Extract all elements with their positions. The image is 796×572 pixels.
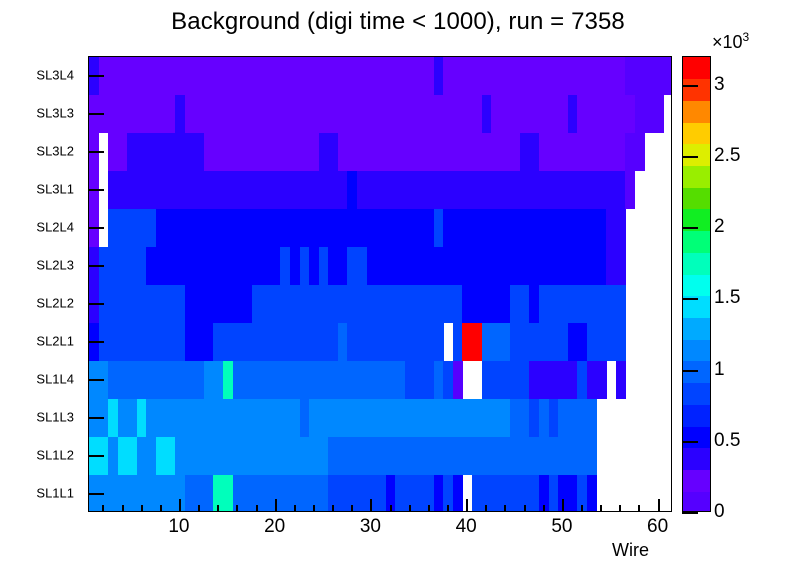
heatmap-cell bbox=[568, 323, 588, 362]
color-scale-tick-label: 1.5 bbox=[714, 287, 740, 309]
heatmap-cell bbox=[175, 437, 329, 476]
y-axis-tick bbox=[88, 265, 104, 267]
x-axis-minor-tick bbox=[160, 505, 162, 512]
heatmap-cell bbox=[577, 95, 635, 134]
color-scale-band bbox=[683, 143, 710, 166]
heatmap-cell bbox=[146, 247, 281, 286]
heatmap-cell bbox=[204, 133, 319, 172]
page-title: Background (digi time < 1000), run = 735… bbox=[0, 8, 796, 36]
color-scale-band bbox=[683, 317, 710, 340]
heatmap-cell bbox=[587, 475, 597, 512]
heatmap-cell bbox=[137, 437, 157, 476]
x-axis-title: Wire bbox=[612, 540, 649, 561]
y-axis-label-sl3l1: SL3L1 bbox=[36, 182, 74, 197]
heatmap-cell bbox=[118, 399, 138, 438]
heatmap-cell bbox=[443, 209, 606, 248]
heatmap-cell bbox=[625, 57, 672, 96]
heatmap-cell bbox=[118, 437, 138, 476]
heatmap-cell bbox=[108, 171, 348, 210]
heatmap-cell bbox=[462, 285, 510, 324]
heatmap-cell bbox=[558, 399, 597, 438]
heatmap-cell bbox=[204, 361, 224, 400]
heatmap-cell bbox=[213, 323, 338, 362]
color-scale-tick-label: 1 bbox=[714, 359, 725, 381]
heatmap-cell bbox=[347, 323, 443, 362]
heatmap-cell bbox=[252, 285, 463, 324]
color-scale-tick bbox=[682, 512, 698, 514]
heatmap-cell bbox=[443, 57, 626, 96]
color-scale-bar bbox=[682, 56, 711, 512]
x-axis-minor-tick bbox=[332, 505, 334, 512]
exponent-power: 3 bbox=[743, 30, 750, 44]
heatmap-cell bbox=[357, 171, 626, 210]
color-scale-band bbox=[683, 100, 710, 123]
heatmap-cell bbox=[635, 95, 664, 134]
y-axis-tick bbox=[88, 493, 104, 495]
x-axis-minor-tick bbox=[504, 505, 506, 512]
y-axis-tick bbox=[88, 303, 104, 305]
heatmap-cell bbox=[625, 133, 645, 172]
exponent-mantissa: ×10 bbox=[712, 32, 743, 52]
color-scale-band bbox=[683, 274, 710, 297]
y-axis-tick bbox=[88, 227, 104, 229]
y-axis-labels: SL3L4SL3L3SL3L2SL3L1SL2L4SL2L3SL2L2SL2L1… bbox=[0, 56, 86, 512]
x-axis-minor-tick bbox=[447, 505, 449, 512]
x-axis-minor-tick bbox=[409, 505, 411, 512]
x-axis-minor-tick bbox=[256, 505, 258, 512]
heatmap-cell bbox=[99, 57, 435, 96]
color-scale-band bbox=[683, 447, 710, 470]
color-scale-band bbox=[683, 230, 710, 253]
color-scale-band bbox=[683, 469, 710, 492]
heatmap-cell bbox=[156, 437, 176, 476]
heatmap-cell bbox=[453, 361, 463, 400]
y-axis-label-sl3l2: SL3L2 bbox=[36, 144, 74, 159]
heatmap-cell bbox=[510, 323, 568, 362]
y-axis-label-sl3l3: SL3L3 bbox=[36, 106, 74, 121]
heatmap-cell bbox=[453, 475, 463, 512]
heatmap-cell bbox=[338, 133, 521, 172]
color-scale-tick bbox=[682, 85, 698, 87]
heatmap-cell bbox=[156, 209, 434, 248]
heatmap-cell bbox=[328, 247, 348, 286]
color-scale-band bbox=[683, 165, 710, 188]
y-axis-tick bbox=[88, 455, 104, 457]
y-axis-label-sl2l1: SL2L1 bbox=[36, 334, 74, 349]
heatmap-cell bbox=[606, 209, 626, 248]
heatmap-cell bbox=[127, 133, 204, 172]
x-axis-minor-tick bbox=[351, 505, 353, 512]
y-axis-tick bbox=[88, 379, 104, 381]
color-scale-tick-label: 2 bbox=[714, 216, 725, 238]
x-axis-tick-label: 50 bbox=[551, 516, 572, 538]
y-axis-label-sl1l4: SL1L4 bbox=[36, 372, 74, 387]
x-axis-minor-tick bbox=[141, 505, 143, 512]
color-scale-tick bbox=[682, 298, 698, 300]
color-scale-band bbox=[683, 339, 710, 362]
color-scale-tick bbox=[682, 227, 698, 229]
x-axis-minor-tick bbox=[524, 505, 526, 512]
heatmap-cell bbox=[328, 437, 597, 476]
x-axis-minor-tick bbox=[485, 505, 487, 512]
y-axis-tick bbox=[88, 341, 104, 343]
y-axis-tick bbox=[88, 189, 104, 191]
root-canvas: Background (digi time < 1000), run = 735… bbox=[0, 0, 796, 572]
heatmap-cell bbox=[529, 361, 577, 400]
color-scale-band bbox=[683, 361, 710, 384]
x-axis-tick-label: 60 bbox=[647, 516, 668, 538]
heatmap-cell bbox=[367, 247, 607, 286]
heatmap-cell bbox=[328, 475, 386, 512]
x-axis-minor-tick bbox=[217, 505, 219, 512]
color-scale-tick-label: 3 bbox=[714, 74, 725, 96]
x-axis-minor-tick bbox=[294, 505, 296, 512]
x-axis-minor-tick bbox=[543, 505, 545, 512]
heatmap-cell bbox=[108, 133, 128, 172]
x-axis-major-tick bbox=[275, 499, 277, 512]
color-scale-band bbox=[683, 122, 710, 145]
color-scale-band bbox=[683, 252, 710, 275]
color-scale-band bbox=[683, 78, 710, 101]
y-axis-tick bbox=[88, 75, 104, 77]
heatmap-cell bbox=[510, 399, 530, 438]
heatmap-cell bbox=[510, 285, 530, 324]
heatmap-cell bbox=[606, 247, 626, 286]
x-axis-minor-tick bbox=[638, 505, 640, 512]
color-scale-band bbox=[683, 426, 710, 449]
y-axis-tick bbox=[88, 151, 104, 153]
heatmap-cell bbox=[99, 285, 186, 324]
heatmap-cell bbox=[319, 133, 339, 172]
heatmap-cell bbox=[539, 133, 626, 172]
heatmap-cell bbox=[233, 361, 406, 400]
color-scale-tick-label: 2.5 bbox=[714, 145, 740, 167]
heatmap-cell bbox=[185, 95, 482, 134]
y-axis-tick bbox=[88, 113, 104, 115]
x-axis-major-tick bbox=[562, 499, 564, 512]
heatmap-cell bbox=[491, 95, 568, 134]
heatmap-cell bbox=[539, 285, 626, 324]
color-scale-band bbox=[683, 491, 710, 512]
color-scale-tick bbox=[682, 370, 698, 372]
heatmap-cell bbox=[482, 361, 530, 400]
heatmap-cell bbox=[520, 133, 540, 172]
color-scale-band bbox=[683, 404, 710, 427]
color-scale-tick bbox=[682, 156, 698, 158]
color-scale-band bbox=[683, 187, 710, 210]
heatmap-cell bbox=[405, 361, 434, 400]
heatmap-cell bbox=[616, 361, 626, 400]
x-axis-minor-tick bbox=[581, 505, 583, 512]
y-axis-label-sl2l2: SL2L2 bbox=[36, 296, 74, 311]
heatmap-cell bbox=[482, 323, 511, 362]
heatmap-cell bbox=[108, 361, 204, 400]
x-axis-tick-label: 10 bbox=[168, 516, 189, 538]
heatmap-cell bbox=[185, 285, 253, 324]
heatmap-cell bbox=[587, 323, 626, 362]
color-scale-tick-label: 0.5 bbox=[714, 430, 740, 452]
x-axis-major-tick bbox=[466, 499, 468, 512]
color-scale-tick bbox=[682, 441, 698, 443]
y-axis-tick bbox=[88, 417, 104, 419]
x-axis-tick-label: 30 bbox=[360, 516, 381, 538]
color-scale-exponent: ×103 bbox=[712, 30, 749, 53]
y-axis-label-sl3l4: SL3L4 bbox=[36, 68, 74, 83]
y-axis-label-sl2l3: SL2L3 bbox=[36, 258, 74, 273]
x-axis-minor-tick bbox=[122, 505, 124, 512]
heatmap-plot-area[interactable] bbox=[88, 56, 672, 512]
y-axis-label-sl1l1: SL1L1 bbox=[36, 486, 74, 501]
y-axis-label-sl1l2: SL1L2 bbox=[36, 448, 74, 463]
heatmap-cell bbox=[625, 171, 635, 210]
x-axis-tick-label: 40 bbox=[456, 516, 477, 538]
y-axis-label-sl2l4: SL2L4 bbox=[36, 220, 74, 235]
x-axis-minor-tick bbox=[390, 505, 392, 512]
color-scale-tick-label: 0 bbox=[714, 501, 725, 523]
x-axis-minor-tick bbox=[236, 505, 238, 512]
color-scale-band bbox=[683, 382, 710, 405]
x-axis-tick-label: 20 bbox=[264, 516, 285, 538]
x-axis-minor-tick bbox=[619, 505, 621, 512]
x-axis-major-tick bbox=[370, 499, 372, 512]
color-scale-band bbox=[683, 57, 710, 80]
heatmap-cell bbox=[309, 399, 511, 438]
heatmap-cells bbox=[89, 57, 671, 511]
x-axis-minor-tick bbox=[428, 505, 430, 512]
heatmap-cell bbox=[146, 399, 300, 438]
heatmap-cell bbox=[462, 323, 482, 362]
x-axis-minor-tick bbox=[313, 505, 315, 512]
x-axis-minor-tick bbox=[198, 505, 200, 512]
y-axis-label-sl1l3: SL1L3 bbox=[36, 410, 74, 425]
heatmap-cell bbox=[587, 361, 607, 400]
heatmap-cell bbox=[108, 209, 156, 248]
x-axis-major-tick bbox=[179, 499, 181, 512]
heatmap-cell bbox=[99, 323, 186, 362]
x-axis-minor-tick bbox=[102, 505, 104, 512]
heatmap-cell bbox=[347, 247, 367, 286]
heatmap-cell bbox=[99, 247, 147, 286]
x-axis-minor-tick bbox=[600, 505, 602, 512]
x-axis-major-tick bbox=[658, 499, 660, 512]
heatmap-cell bbox=[185, 323, 214, 362]
